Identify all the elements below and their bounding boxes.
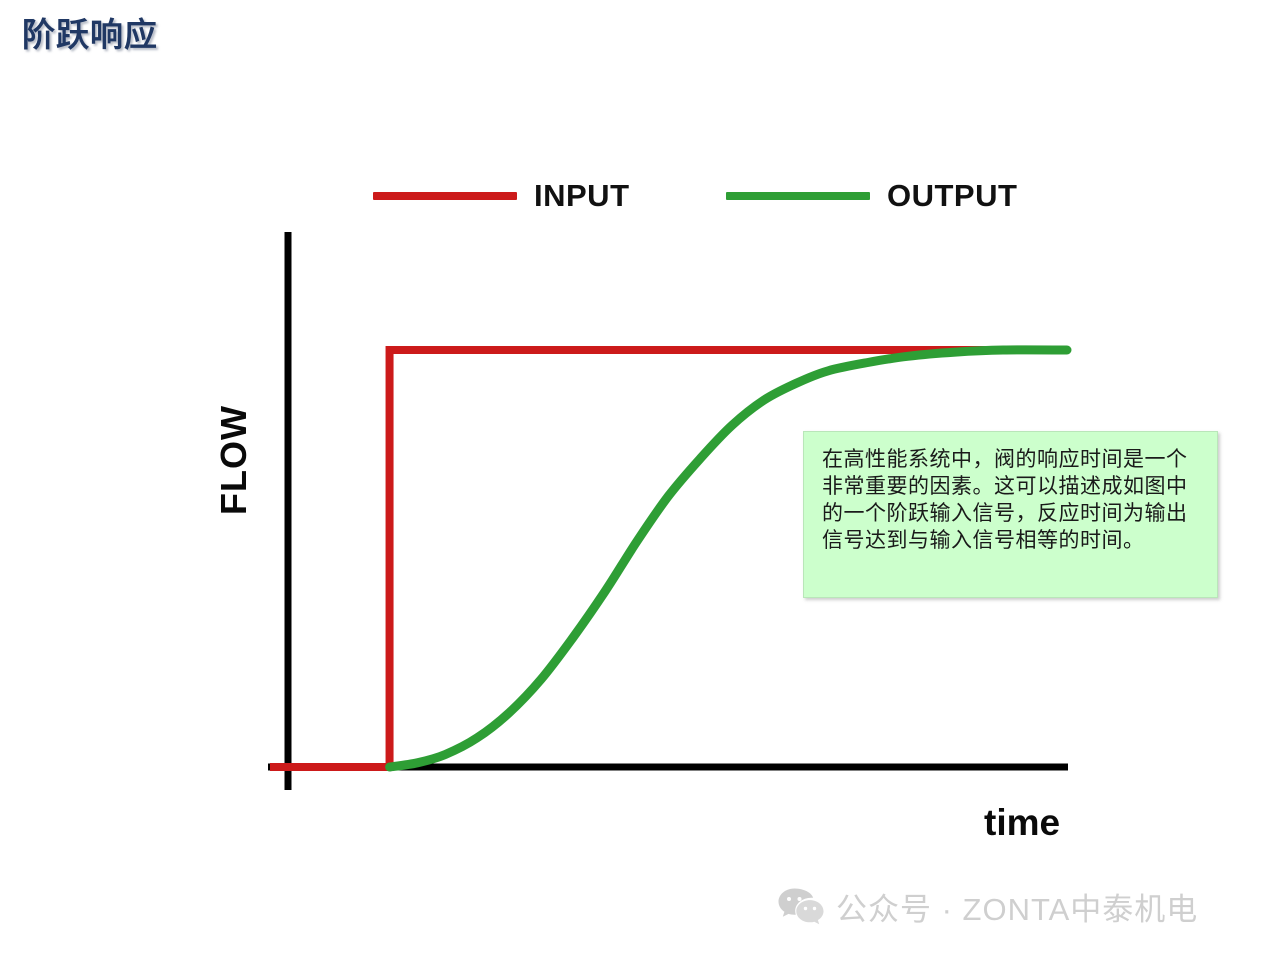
x-axis-label: time	[984, 802, 1060, 844]
wechat-icon	[778, 888, 824, 926]
watermark: 公众号 · ZONTA中泰机电	[778, 884, 1198, 929]
annotation-note-box: 在高性能系统中，阀的响应时间是一个非常重要的因素。这可以描述成如图中的一个阶跃输…	[803, 431, 1218, 598]
y-axis-label: FLOW	[213, 375, 253, 545]
slide-canvas: 阶跃响应 INPUT OUTPUT FLOW time 在高性能系统中，阀的响应…	[0, 0, 1280, 960]
watermark-text: 公众号 · ZONTA中泰机电	[836, 884, 1198, 929]
annotation-note-text: 在高性能系统中，阀的响应时间是一个非常重要的因素。这可以描述成如图中的一个阶跃输…	[822, 446, 1201, 554]
